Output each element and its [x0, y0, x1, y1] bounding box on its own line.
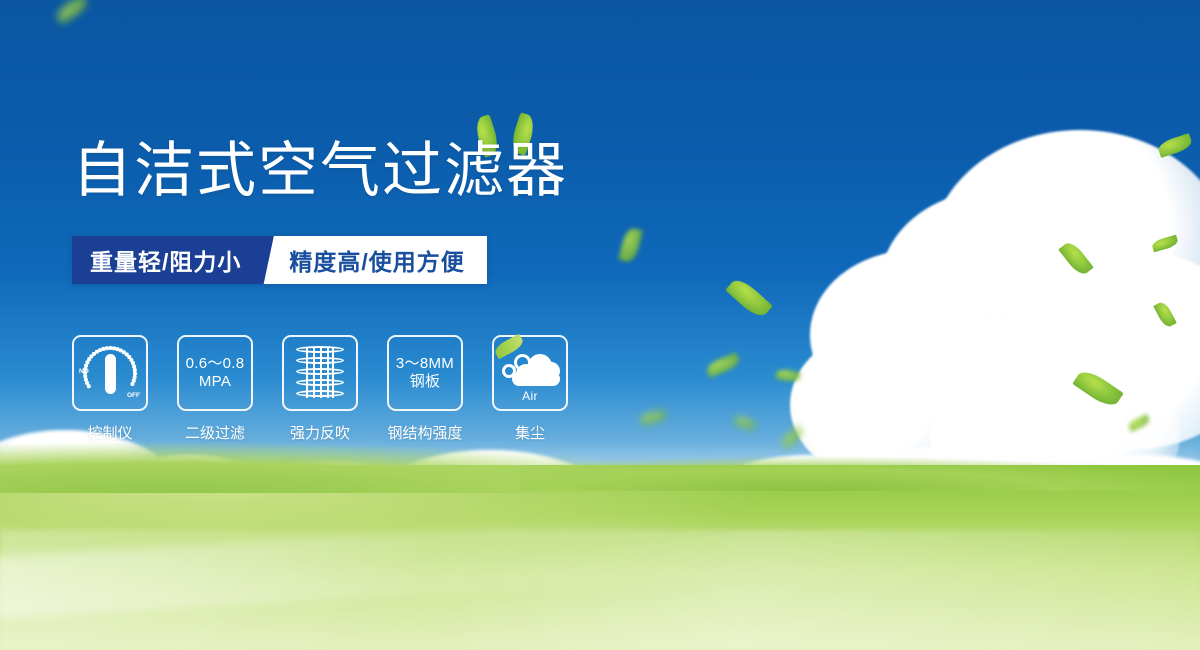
pressure-value: 0.6～0.8 [186, 355, 245, 372]
feature-icon-box: 3～8MM 钢板 [387, 335, 463, 411]
leaf-icon [54, 0, 91, 25]
feature-icon-box: Air [492, 335, 568, 411]
feature-item-control[interactable]: NO OFF 控制仪 [72, 335, 148, 443]
subtitle-bar: 重量轻/阻力小 精度高/使用方便 [72, 236, 487, 284]
air-label: Air [498, 389, 562, 403]
leaf-icon [618, 226, 643, 263]
feature-icon-box: 0.6～0.8 MPA [177, 335, 253, 411]
feature-label: 强力反吹 [290, 422, 350, 443]
page-title: 自洁式空气过滤器 [72, 141, 568, 201]
pressure-unit: MPA [186, 373, 245, 391]
coil-icon [292, 344, 348, 402]
coil-ring [296, 379, 344, 386]
steel-icon: 3～8MM 钢板 [396, 355, 454, 392]
feature-label: 二级过滤 [185, 422, 245, 443]
subtitle-left: 重量轻/阻力小 [72, 236, 257, 284]
leaf-icon [705, 352, 742, 378]
gauge-dot [131, 382, 134, 385]
grass-field [0, 465, 1200, 650]
coil-ring [296, 357, 344, 364]
coil-ring [296, 346, 344, 353]
feature-label: 控制仪 [87, 422, 132, 443]
steel-thickness: 3～8MM [396, 355, 454, 372]
feature-label: 钢结构强度 [387, 422, 462, 443]
coil-ring [296, 390, 344, 397]
gauge-dot [88, 357, 91, 360]
coil-ring [296, 368, 344, 375]
feature-item-pressure[interactable]: 0.6～0.8 MPA 二级过滤 [177, 335, 253, 443]
feature-icon-box: NO OFF [72, 335, 148, 411]
subtitle-divider [257, 236, 283, 284]
gauge-icon: NO OFF [78, 341, 142, 405]
subtitle-right: 精度高/使用方便 [283, 236, 486, 284]
feature-item-steel[interactable]: 3～8MM 钢板 钢结构强度 [387, 335, 463, 443]
feature-label: 集尘 [515, 422, 545, 443]
promo-banner: 自洁式空气过滤器 重量轻/阻力小 精度高/使用方便 NO OFF 控制仪 0.6… [0, 0, 1200, 650]
gauge-label-no: NO [79, 368, 89, 375]
gauge-dot [84, 364, 87, 367]
air-cloud-icon: Air [498, 344, 562, 402]
gauge-label-off: OFF [127, 392, 140, 399]
feature-list: NO OFF 控制仪 0.6～0.8 MPA 二级过滤 [72, 335, 568, 443]
gauge-dot [87, 385, 90, 388]
gauge-dot [86, 361, 89, 364]
feature-item-dust[interactable]: Air 集尘 [492, 335, 568, 443]
steel-material: 钢板 [396, 373, 454, 391]
leaf-icon [1157, 133, 1194, 158]
leaf-icon [725, 275, 773, 321]
feature-item-blowback[interactable]: 强力反吹 [282, 335, 358, 443]
gauge-needle [105, 354, 116, 394]
pressure-icon: 0.6～0.8 MPA [186, 355, 245, 392]
cloud-base [512, 372, 560, 386]
feature-icon-box [282, 335, 358, 411]
